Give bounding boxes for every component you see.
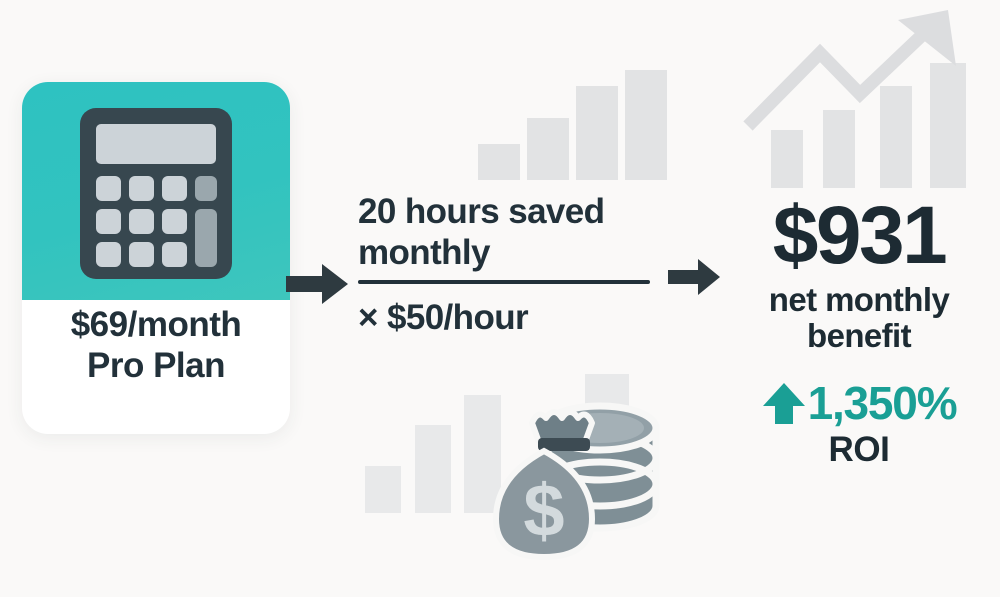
plan-card[interactable]: $69/month Pro Plan <box>22 82 290 434</box>
decorative-bar <box>625 70 667 180</box>
money-bag-and-coins-icon: $ <box>486 368 666 564</box>
infographic-canvas: $69/month Pro Plan 20 hours saved monthl… <box>0 0 1000 597</box>
formula-divider <box>358 280 650 284</box>
decorative-bar <box>576 86 618 180</box>
plan-price: $69/month <box>22 304 290 345</box>
net-benefit-caption-line2: benefit <box>718 318 1000 354</box>
money-bag-icon: $ <box>496 412 592 557</box>
arrow-right-icon-1 <box>286 262 348 306</box>
formula-denominator: × $50/hour <box>358 298 650 338</box>
decorative-bar <box>478 144 520 180</box>
formula-numerator: 20 hours saved monthly <box>358 192 650 274</box>
decorative-bar <box>527 118 569 180</box>
roi-row: 1,350% <box>718 380 1000 426</box>
plan-name: Pro Plan <box>22 345 290 386</box>
plan-card-text: $69/month Pro Plan <box>22 304 290 387</box>
roi-label: ROI <box>718 430 1000 470</box>
arrow-up-icon <box>762 380 806 426</box>
arrow-right-icon-2 <box>668 258 720 296</box>
formula-numerator-line2: monthly <box>358 233 650 274</box>
result-block: $931 net monthly benefit 1,350% ROI <box>718 196 1000 470</box>
formula-block: 20 hours saved monthly × $50/hour <box>358 192 650 338</box>
formula-numerator-line1: 20 hours saved <box>358 192 650 233</box>
growth-arrow-chart-icon <box>742 8 1000 188</box>
calculator-icon <box>78 106 234 281</box>
roi-value: 1,350% <box>808 380 957 426</box>
net-benefit-amount: $931 <box>718 196 1000 276</box>
net-benefit-caption: net monthly benefit <box>718 282 1000 355</box>
decorative-bar <box>365 466 401 513</box>
net-benefit-caption-line1: net monthly <box>718 282 1000 318</box>
plan-card-header <box>22 82 290 300</box>
svg-text:$: $ <box>523 469 564 552</box>
decorative-bar <box>415 425 451 513</box>
